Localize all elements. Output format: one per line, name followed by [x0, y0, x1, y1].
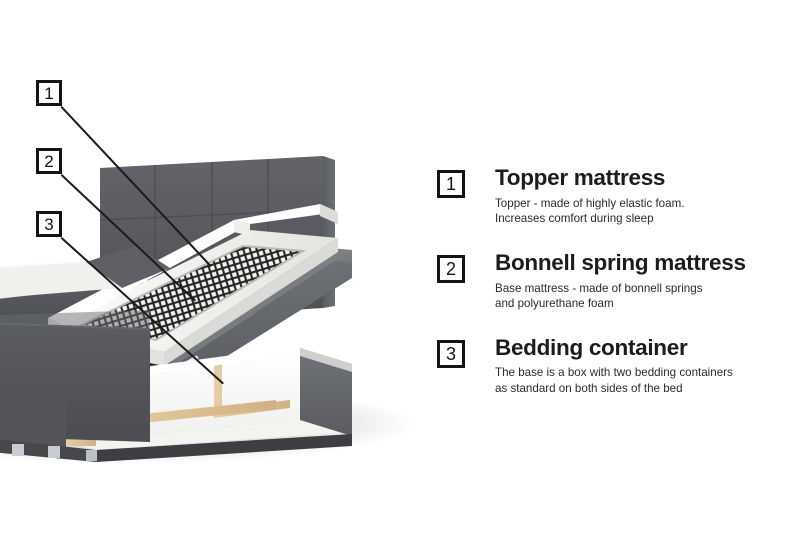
legend: 1 Topper mattress Topper - made of highl… — [437, 166, 789, 421]
legend-description-3: The base is a box with two bedding conta… — [495, 365, 789, 396]
callout-box-3[interactable]: 3 — [36, 211, 62, 237]
callout-box-1[interactable]: 1 — [36, 80, 62, 106]
legend-text-3: Bedding container The base is a box with… — [495, 336, 789, 397]
legend-number-2: 2 — [437, 255, 465, 283]
legend-title-2: Bonnell spring mattress — [495, 251, 789, 275]
legend-number-label-1: 1 — [446, 175, 456, 193]
legend-number-3: 3 — [437, 340, 465, 368]
legend-description-1: Topper - made of highly elastic foam. In… — [495, 196, 789, 227]
legend-number-1: 1 — [437, 170, 465, 198]
legend-item-1: 1 Topper mattress Topper - made of highl… — [437, 166, 789, 227]
bed-illustration-svg — [0, 150, 440, 480]
callout-box-2[interactable]: 2 — [36, 148, 62, 174]
legend-item-2: 2 Bonnell spring mattress Base mattress … — [437, 251, 789, 312]
callout-label-2: 2 — [44, 153, 53, 170]
bed-illustration — [0, 150, 440, 480]
callout-label-3: 3 — [44, 216, 53, 233]
legend-title-3: Bedding container — [495, 336, 789, 360]
callout-label-1: 1 — [44, 85, 53, 102]
legend-text-1: Topper mattress Topper - made of highly … — [495, 166, 789, 227]
legend-item-3: 3 Bedding container The base is a box wi… — [437, 336, 789, 397]
legend-number-label-3: 3 — [446, 345, 456, 363]
legend-text-2: Bonnell spring mattress Base mattress - … — [495, 251, 789, 312]
legend-description-2: Base mattress - made of bonnell springs … — [495, 281, 789, 312]
legend-number-label-2: 2 — [446, 260, 456, 278]
diagram-canvas: 1 2 3 1 Topper mattress Topper - made of… — [0, 0, 800, 533]
legend-title-1: Topper mattress — [495, 166, 789, 190]
